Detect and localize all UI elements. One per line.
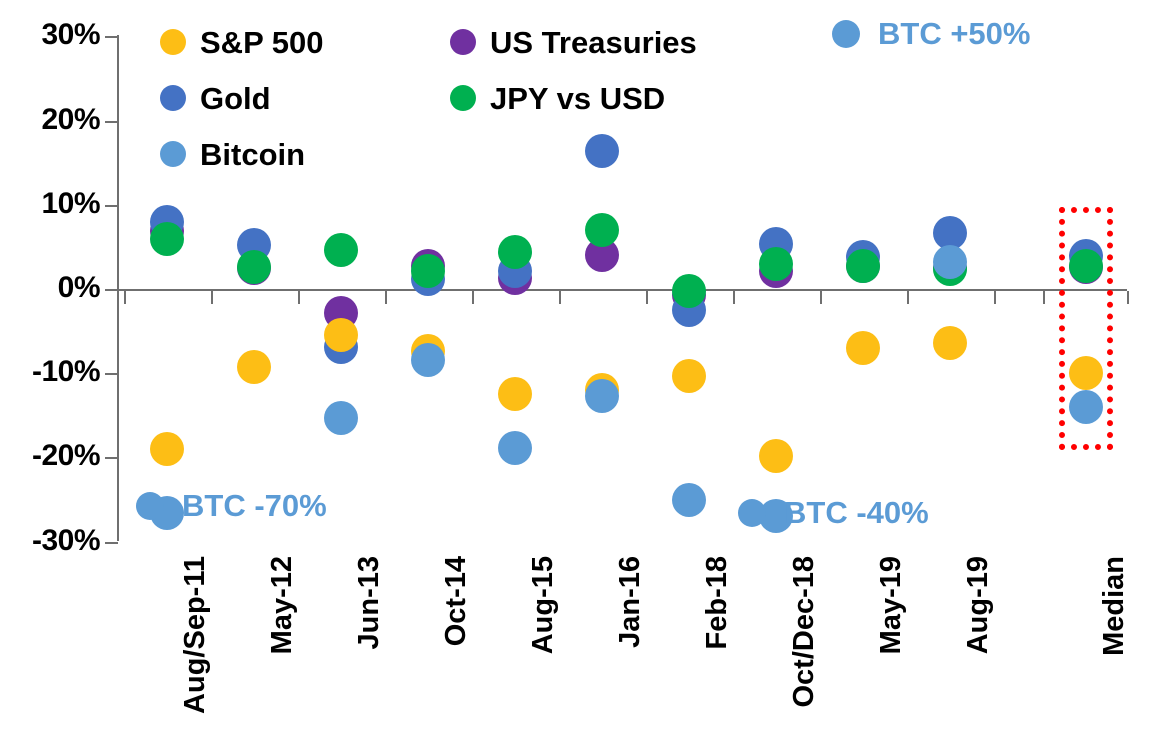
y-axis-tick-label: 30% (0, 20, 100, 50)
legend-swatch-icon (160, 29, 186, 55)
data-point-marker (150, 214, 184, 248)
annotation-btc-minus-70: BTC -70% (136, 490, 327, 521)
y-axis-tick-label: -10% (0, 357, 100, 387)
x-axis-tick (559, 291, 561, 304)
data-point-marker (498, 431, 532, 465)
x-axis-tick-label: Jan-16 (616, 556, 645, 756)
data-point-marker (237, 250, 271, 284)
x-axis-tick-label: Oct-14 (442, 556, 471, 756)
data-point-marker (846, 249, 880, 283)
data-point-marker (672, 293, 706, 327)
y-axis-tick-label: -20% (0, 441, 100, 471)
legend-item-jpy-vs-usd[interactable]: JPY vs USD (450, 70, 697, 126)
data-point-marker (846, 240, 880, 274)
data-point-marker (324, 296, 358, 330)
x-axis-tick-label: May-12 (268, 556, 297, 756)
y-axis-tick-label: 0% (0, 273, 100, 303)
data-point-marker (759, 254, 793, 288)
x-axis-tick (211, 291, 213, 304)
y-axis-tick (105, 457, 118, 459)
zero-baseline (117, 289, 1127, 291)
x-axis-tick (1127, 291, 1129, 304)
data-point-marker (933, 252, 967, 286)
y-axis-tick (105, 36, 118, 38)
data-point-marker (411, 249, 445, 283)
data-point-marker (846, 331, 880, 365)
x-axis-tick-label: Aug-19 (964, 556, 993, 756)
x-axis-tick-label: Aug/Sep-11 (181, 556, 210, 756)
data-point-marker (933, 245, 967, 279)
y-axis-tick (105, 205, 118, 207)
median-highlight-box (1059, 207, 1113, 450)
annotation-label: BTC -70% (182, 490, 327, 521)
annotation-btc-minus-40: BTC -40% (738, 497, 929, 528)
x-axis-tick (820, 291, 822, 304)
y-axis-tick-label: 10% (0, 189, 100, 219)
data-point-marker (498, 254, 532, 288)
data-point-marker (237, 350, 271, 384)
x-axis-tick (733, 291, 735, 304)
data-point-marker (585, 379, 619, 413)
legend-swatch-icon (160, 85, 186, 111)
legend-item-s-p-500[interactable]: S&P 500 (160, 14, 324, 70)
legend-item-gold[interactable]: Gold (160, 70, 324, 126)
y-axis-tick (105, 373, 118, 375)
x-axis-tick-label: Aug-15 (529, 556, 558, 756)
x-axis-tick (472, 291, 474, 304)
x-axis-tick-label: Median (1100, 556, 1129, 756)
y-axis-tick (105, 542, 118, 544)
x-axis-tick-label: May-19 (877, 556, 906, 756)
x-axis-tick (385, 291, 387, 304)
data-point-marker (585, 238, 619, 272)
annotation-label: BTC -40% (784, 497, 929, 528)
data-point-marker (759, 227, 793, 261)
data-point-marker (933, 216, 967, 250)
data-point-marker (498, 235, 532, 269)
legend-item-label: JPY vs USD (490, 83, 665, 114)
data-point-marker (411, 343, 445, 377)
x-axis-tick-label: Feb-18 (703, 556, 732, 756)
x-axis-tick (907, 291, 909, 304)
data-point-marker (585, 373, 619, 407)
x-axis-tick (994, 291, 996, 304)
x-axis-tick (298, 291, 300, 304)
data-point-marker (411, 254, 445, 288)
data-point-marker (411, 334, 445, 368)
data-point-marker (324, 401, 358, 435)
data-point-marker (324, 330, 358, 364)
legend-item-label: Bitcoin (200, 139, 305, 170)
data-point-marker (672, 278, 706, 312)
legend-swatch-icon (450, 29, 476, 55)
x-axis-tick-label: Oct/Dec-18 (790, 556, 819, 756)
x-axis-tick-label: Jun-13 (355, 556, 384, 756)
x-axis-tick (124, 291, 126, 304)
legend-column: S&P 500GoldBitcoin (160, 14, 324, 182)
bitcoin-marker-icon (832, 20, 860, 48)
data-point-marker (498, 377, 532, 411)
x-axis-tick (646, 291, 648, 304)
legend-item-label: S&P 500 (200, 27, 324, 58)
data-point-marker (759, 247, 793, 281)
annotation-btc-plus-50: BTC +50% (832, 18, 1030, 49)
data-point-marker (324, 318, 358, 352)
scatter-chart: 30%20%10%0%-10%-20%-30% Aug/Sep-11May-12… (0, 0, 1151, 739)
data-point-marker (150, 222, 184, 256)
data-point-marker (759, 439, 793, 473)
data-point-marker (150, 432, 184, 466)
legend-swatch-icon (450, 85, 476, 111)
legend-column: US TreasuriesJPY vs USD (450, 14, 697, 126)
y-axis-line (117, 35, 119, 541)
annotation-label: BTC +50% (878, 18, 1030, 49)
legend-item-label: US Treasuries (490, 27, 697, 58)
data-point-marker (324, 233, 358, 267)
y-axis-tick-label: 20% (0, 105, 100, 135)
y-axis-tick (105, 121, 118, 123)
data-point-marker (150, 205, 184, 239)
data-point-marker (672, 359, 706, 393)
data-point-marker (672, 483, 706, 517)
x-axis-tick (1043, 291, 1045, 304)
legend-item-bitcoin[interactable]: Bitcoin (160, 126, 324, 182)
data-point-marker (933, 326, 967, 360)
bitcoin-marker-icon (738, 499, 766, 527)
data-point-marker (237, 251, 271, 285)
legend-swatch-icon (160, 141, 186, 167)
data-point-marker (846, 249, 880, 283)
legend-item-us-treasuries[interactable]: US Treasuries (450, 14, 697, 70)
y-axis-tick-label: -30% (0, 526, 100, 556)
data-point-marker (933, 251, 967, 285)
bitcoin-marker-icon (136, 492, 164, 520)
legend-item-label: Gold (200, 83, 271, 114)
data-point-marker (585, 134, 619, 168)
data-point-marker (237, 228, 271, 262)
data-point-marker (585, 213, 619, 247)
